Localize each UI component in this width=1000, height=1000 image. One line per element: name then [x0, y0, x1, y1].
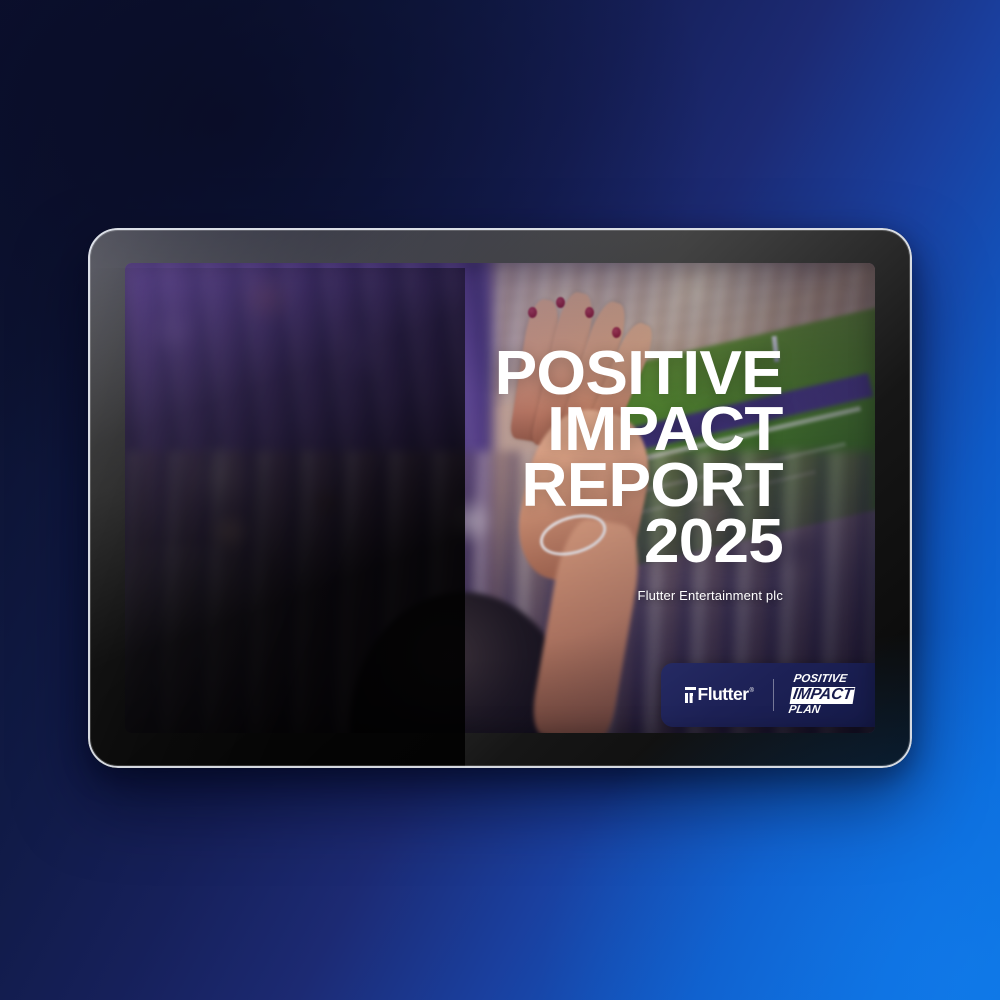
pip-line-plan: PLAN	[788, 704, 821, 716]
tablet-screen[interactable]: POSITIVE IMPACT REPORT 2025 Flutter Ente…	[125, 263, 875, 733]
headline-line-3: REPORT	[521, 459, 783, 512]
flutter-f-mark-icon	[685, 687, 696, 704]
flutter-f-dot-icon	[690, 693, 693, 696]
flutter-wordmark: Flutter	[698, 686, 749, 704]
headline-line-4: 2025	[644, 515, 783, 568]
positive-impact-plan-logo: POSITIVE IMPACT PLAN	[788, 674, 858, 716]
flutter-trademark-icon: ®	[750, 688, 754, 694]
headline-line-1: POSITIVE	[495, 347, 783, 400]
pip-line-positive: POSITIVE	[792, 674, 847, 686]
flutter-logo: Flutter ®	[685, 686, 754, 704]
logo-lockup-panel: Flutter ® POSITIVE IMPACT PLAN	[661, 663, 875, 727]
headline-line-2: IMPACT	[548, 403, 783, 456]
tablet-device-mockup: POSITIVE IMPACT REPORT 2025 Flutter Ente…	[88, 228, 912, 768]
cover-subtitle: Flutter Entertainment plc	[637, 588, 783, 603]
pip-line-impact: IMPACT	[790, 687, 856, 704]
page-backdrop: POSITIVE IMPACT REPORT 2025 Flutter Ente…	[0, 0, 1000, 1000]
logo-divider	[773, 679, 774, 711]
